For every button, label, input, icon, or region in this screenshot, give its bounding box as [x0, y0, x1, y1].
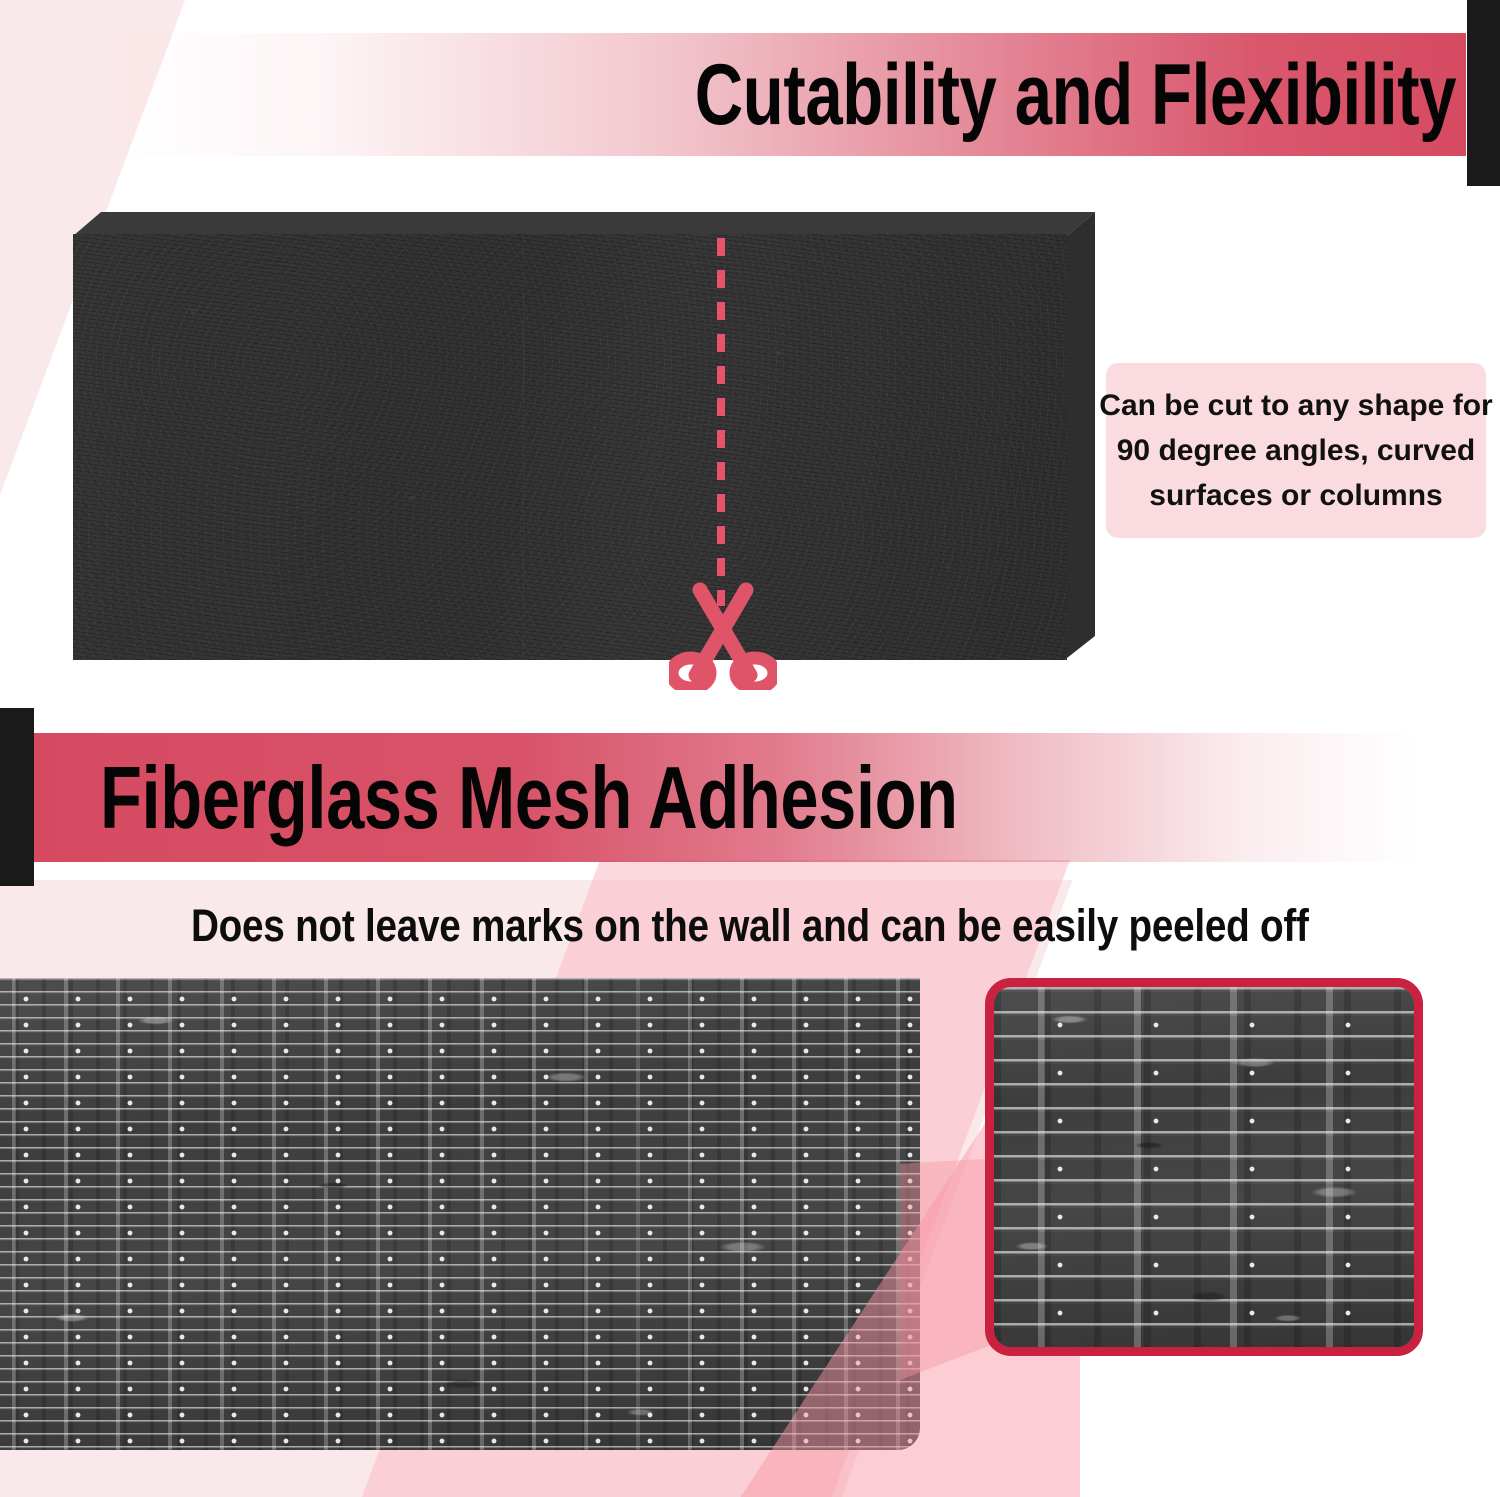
mesh-surface-noise [0, 978, 920, 1450]
foam-panel-top-bevel [73, 212, 1095, 236]
section-1-title: Cutability and Flexibility [695, 52, 1456, 138]
callout-line-3: surfaces or columns [1149, 481, 1442, 511]
scissors-icon [669, 578, 777, 690]
callout-line-2: 90 degree angles, curved [1117, 436, 1476, 466]
mesh-magnified-noise [994, 987, 1414, 1347]
foam-panel-image [73, 212, 1095, 660]
banner-fiberglass-mesh: Fiberglass Mesh Adhesion [34, 733, 1474, 862]
infographic-page: Cutability and Flexibility Can be cut to… [0, 0, 1500, 1497]
mesh-magnified-surface [994, 987, 1414, 1347]
section-2-subtitle-text: Does not leave marks on the wall and can… [191, 900, 1309, 952]
banner-accent-bar-bottom [0, 708, 34, 886]
callout-line-1: Can be cut to any shape for [1099, 391, 1492, 421]
section-2-subtitle: Does not leave marks on the wall and can… [0, 900, 1500, 952]
mesh-photo-main [0, 978, 920, 1450]
mesh-photo-magnified [985, 978, 1423, 1356]
cutability-callout-box: Can be cut to any shape for 90 degree an… [1106, 363, 1486, 538]
section-2-title: Fiberglass Mesh Adhesion [100, 754, 958, 842]
foam-panel-side-face [1067, 212, 1095, 660]
dashed-cut-line [717, 238, 725, 606]
foam-panel-front-face [73, 234, 1067, 660]
banner-cutability: Cutability and Flexibility [108, 33, 1466, 156]
banner-accent-bar-top [1467, 0, 1500, 186]
